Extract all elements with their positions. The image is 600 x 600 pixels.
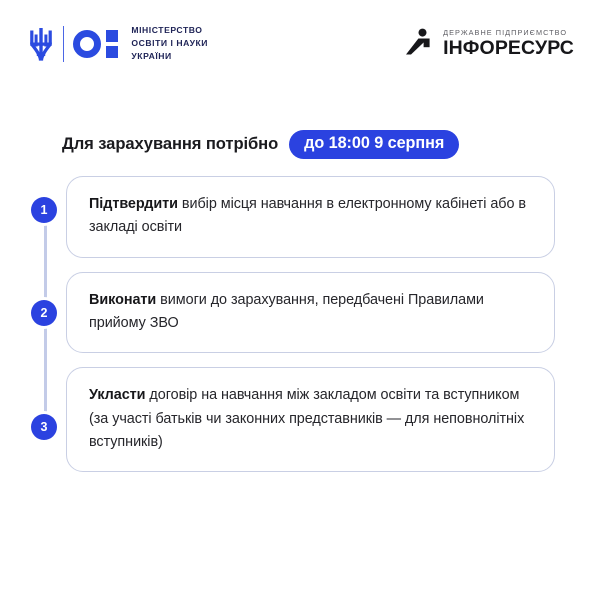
step-card-lead: Виконати [89, 292, 156, 308]
ukraine-trident-icon [28, 26, 54, 62]
mon-squares-shape [106, 30, 118, 58]
step-card: Виконати вимоги до зарахування, передбач… [66, 272, 555, 354]
step-card-lead: Підтвердити [89, 196, 178, 212]
ministry-line-1: МІНІСТЕРСТВО [131, 24, 208, 37]
inforesurs-line-2: ІНФОРЕСУРС [443, 39, 574, 59]
step-card-text: договір на навчання між закладом освіти … [89, 387, 524, 450]
step-item: 1 Підтвердити вибір місця навчання в еле… [0, 176, 600, 258]
infographic-page: МІНІСТЕРСТВО ОСВІТИ І НАУКИ УКРАЇНИ ДЕРЖ… [0, 0, 600, 600]
step-number-badge: 2 [31, 300, 57, 326]
ministry-line-3: УКРАЇНИ [131, 50, 208, 63]
inforesurs-logo-text: ДЕРЖАВНЕ ПІДПРИЄМСТВО ІНФОРЕСУРС [443, 29, 574, 59]
deadline-badge: до 18:00 9 серпня [289, 130, 459, 159]
page-title: Для зарахування потрібно [62, 134, 278, 154]
step-card: Укласти договір на навчання між закладом… [66, 367, 555, 472]
mon-ring-shape [73, 30, 101, 58]
step-number-badge: 1 [31, 197, 57, 223]
page-title-row: Для зарахування потрібно до 18:00 9 серп… [62, 130, 459, 159]
ministry-logo-text: МІНІСТЕРСТВО ОСВІТИ І НАУКИ УКРАЇНИ [131, 24, 208, 63]
page-header: МІНІСТЕРСТВО ОСВІТИ І НАУКИ УКРАЇНИ ДЕРЖ… [0, 0, 600, 94]
step-number-badge: 3 [31, 414, 57, 440]
step-item: 2 Виконати вимоги до зарахування, передб… [0, 272, 600, 354]
ministry-line-2: ОСВІТИ І НАУКИ [131, 37, 208, 50]
inforesurs-i-mark-icon [405, 28, 435, 60]
inforesurs-logo: ДЕРЖАВНЕ ПІДПРИЄМСТВО ІНФОРЕСУРС [405, 28, 574, 60]
step-item: 3 Укласти договір на навчання між заклад… [0, 367, 600, 472]
step-card: Підтвердити вибір місця навчання в елект… [66, 176, 555, 258]
logo-divider [63, 26, 64, 62]
inforesurs-line-1: ДЕРЖАВНЕ ПІДПРИЄМСТВО [443, 29, 574, 36]
mon-o-mark-icon [73, 30, 118, 58]
ministry-of-education-logo: МІНІСТЕРСТВО ОСВІТИ І НАУКИ УКРАЇНИ [28, 24, 208, 63]
steps-list: 1 Підтвердити вибір місця навчання в еле… [0, 176, 600, 472]
step-card-lead: Укласти [89, 387, 145, 403]
